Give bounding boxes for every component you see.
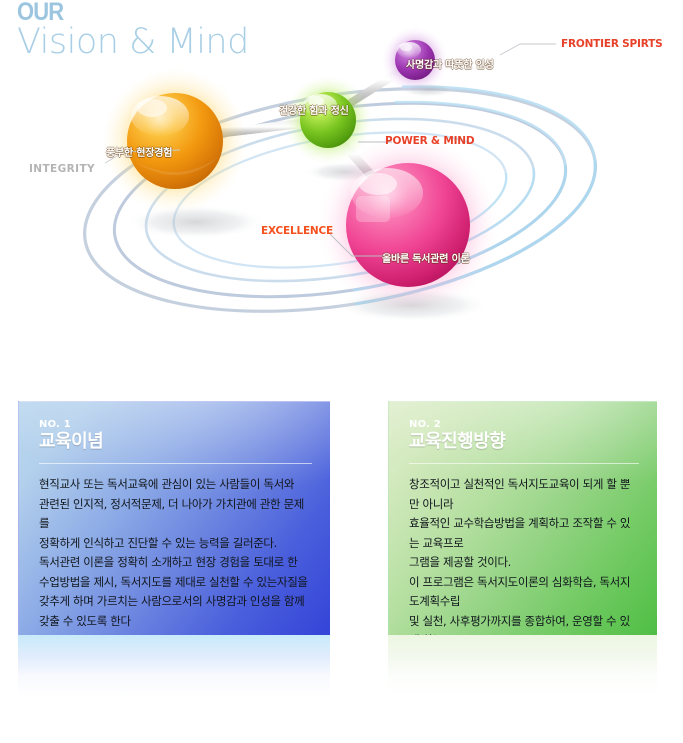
sphere-label-integrity: 풍부한 현장경험	[106, 144, 172, 159]
panel-reflection-1	[18, 635, 330, 697]
panel-body-line: 수업방법을 제시, 독서지도를 제대로 실천할 수 있는자질을	[39, 573, 312, 593]
panel-title: 교육진행방향	[409, 431, 639, 453]
panel-education-philosophy: NO. 1 교육이념 현직교사 또는 독서교육에 관심이 있는 사람들이 독서와…	[18, 401, 330, 635]
sphere-excellence	[318, 135, 498, 315]
panel-body-line: 관련된 인지적, 정서적문제, 더 나아가 가치관에 관한 문제를	[39, 495, 312, 534]
panel-number: NO. 2	[409, 418, 639, 431]
panel-body-line: 그램을 제공할 것이다.	[409, 553, 639, 573]
panel-education-direction: NO. 2 교육진행방향 창조적이고 실천적인 독서지도교육이 되게 할 뿐만 …	[388, 401, 657, 635]
panel-body-line: 창조적이고 실천적인 독서지도교육이 되게 할 뿐만 아니라	[409, 475, 639, 514]
panel-number: NO. 1	[39, 418, 312, 431]
panel-title: 교육이념	[39, 431, 312, 453]
panel-body-line: 이 프로그램은 독서지도이론의 심화학습, 독서지도계획수립	[409, 573, 639, 612]
panel-body-line: 및 실천, 사후평가까지를 종합하여, 운영할 수 있게 하는 프	[409, 612, 639, 636]
panel-body-line: 정확하게 인식하고 진단할 수 있는 능력을 길러준다.	[39, 534, 312, 554]
panel-reflection-2	[388, 635, 657, 697]
sphere-label-power-and-mind: 건강한 힘과 정신	[279, 102, 349, 117]
diagram-canvas	[0, 0, 683, 385]
tag-integrity: INTEGRITY	[29, 163, 95, 175]
sphere-label-frontier-spirts: 사명감과 따뜻한 인성	[406, 56, 494, 71]
panel-body: 창조적이고 실천적인 독서지도교육이 되게 할 뿐만 아니라 효율적인 교수학습…	[409, 475, 639, 635]
panel-body-line: 갖출 수 있도록 한다	[39, 612, 312, 632]
tag-frontier-spirts: FRONTIER SPIRTS	[561, 38, 662, 50]
tag-power-and-mind: POWER & MIND	[385, 135, 474, 147]
panel-body-line: 효율적인 교수학습방법을 계획하고 조작할 수 있는 교육프로	[409, 514, 639, 553]
panel-divider	[409, 463, 639, 464]
panel-body-line: 독서관련 이론을 정확히 소개하고 현장 경험을 토대로 한	[39, 553, 312, 573]
panel-body-line: 현직교사 또는 독서교육에 관심이 있는 사람들이 독서와	[39, 475, 312, 495]
panel-body-line: 갖추게 하며 가르치는 사람으로서의 사명감과 인성을 함께	[39, 592, 312, 612]
vision-diagram: 풍부한 현장경험 건강한 힘과 정신 사명감과 따뜻한 인성 올바른 독서관련 …	[0, 0, 683, 385]
panel-body: 현직교사 또는 독서교육에 관심이 있는 사람들이 독서와 관련된 인지적, 정…	[39, 475, 312, 631]
sphere-integrity	[103, 69, 247, 213]
sphere-label-excellence: 올바른 독서관련 이론	[382, 250, 470, 265]
panel-divider	[39, 463, 312, 464]
tag-excellence: EXCELLENCE	[261, 225, 333, 237]
